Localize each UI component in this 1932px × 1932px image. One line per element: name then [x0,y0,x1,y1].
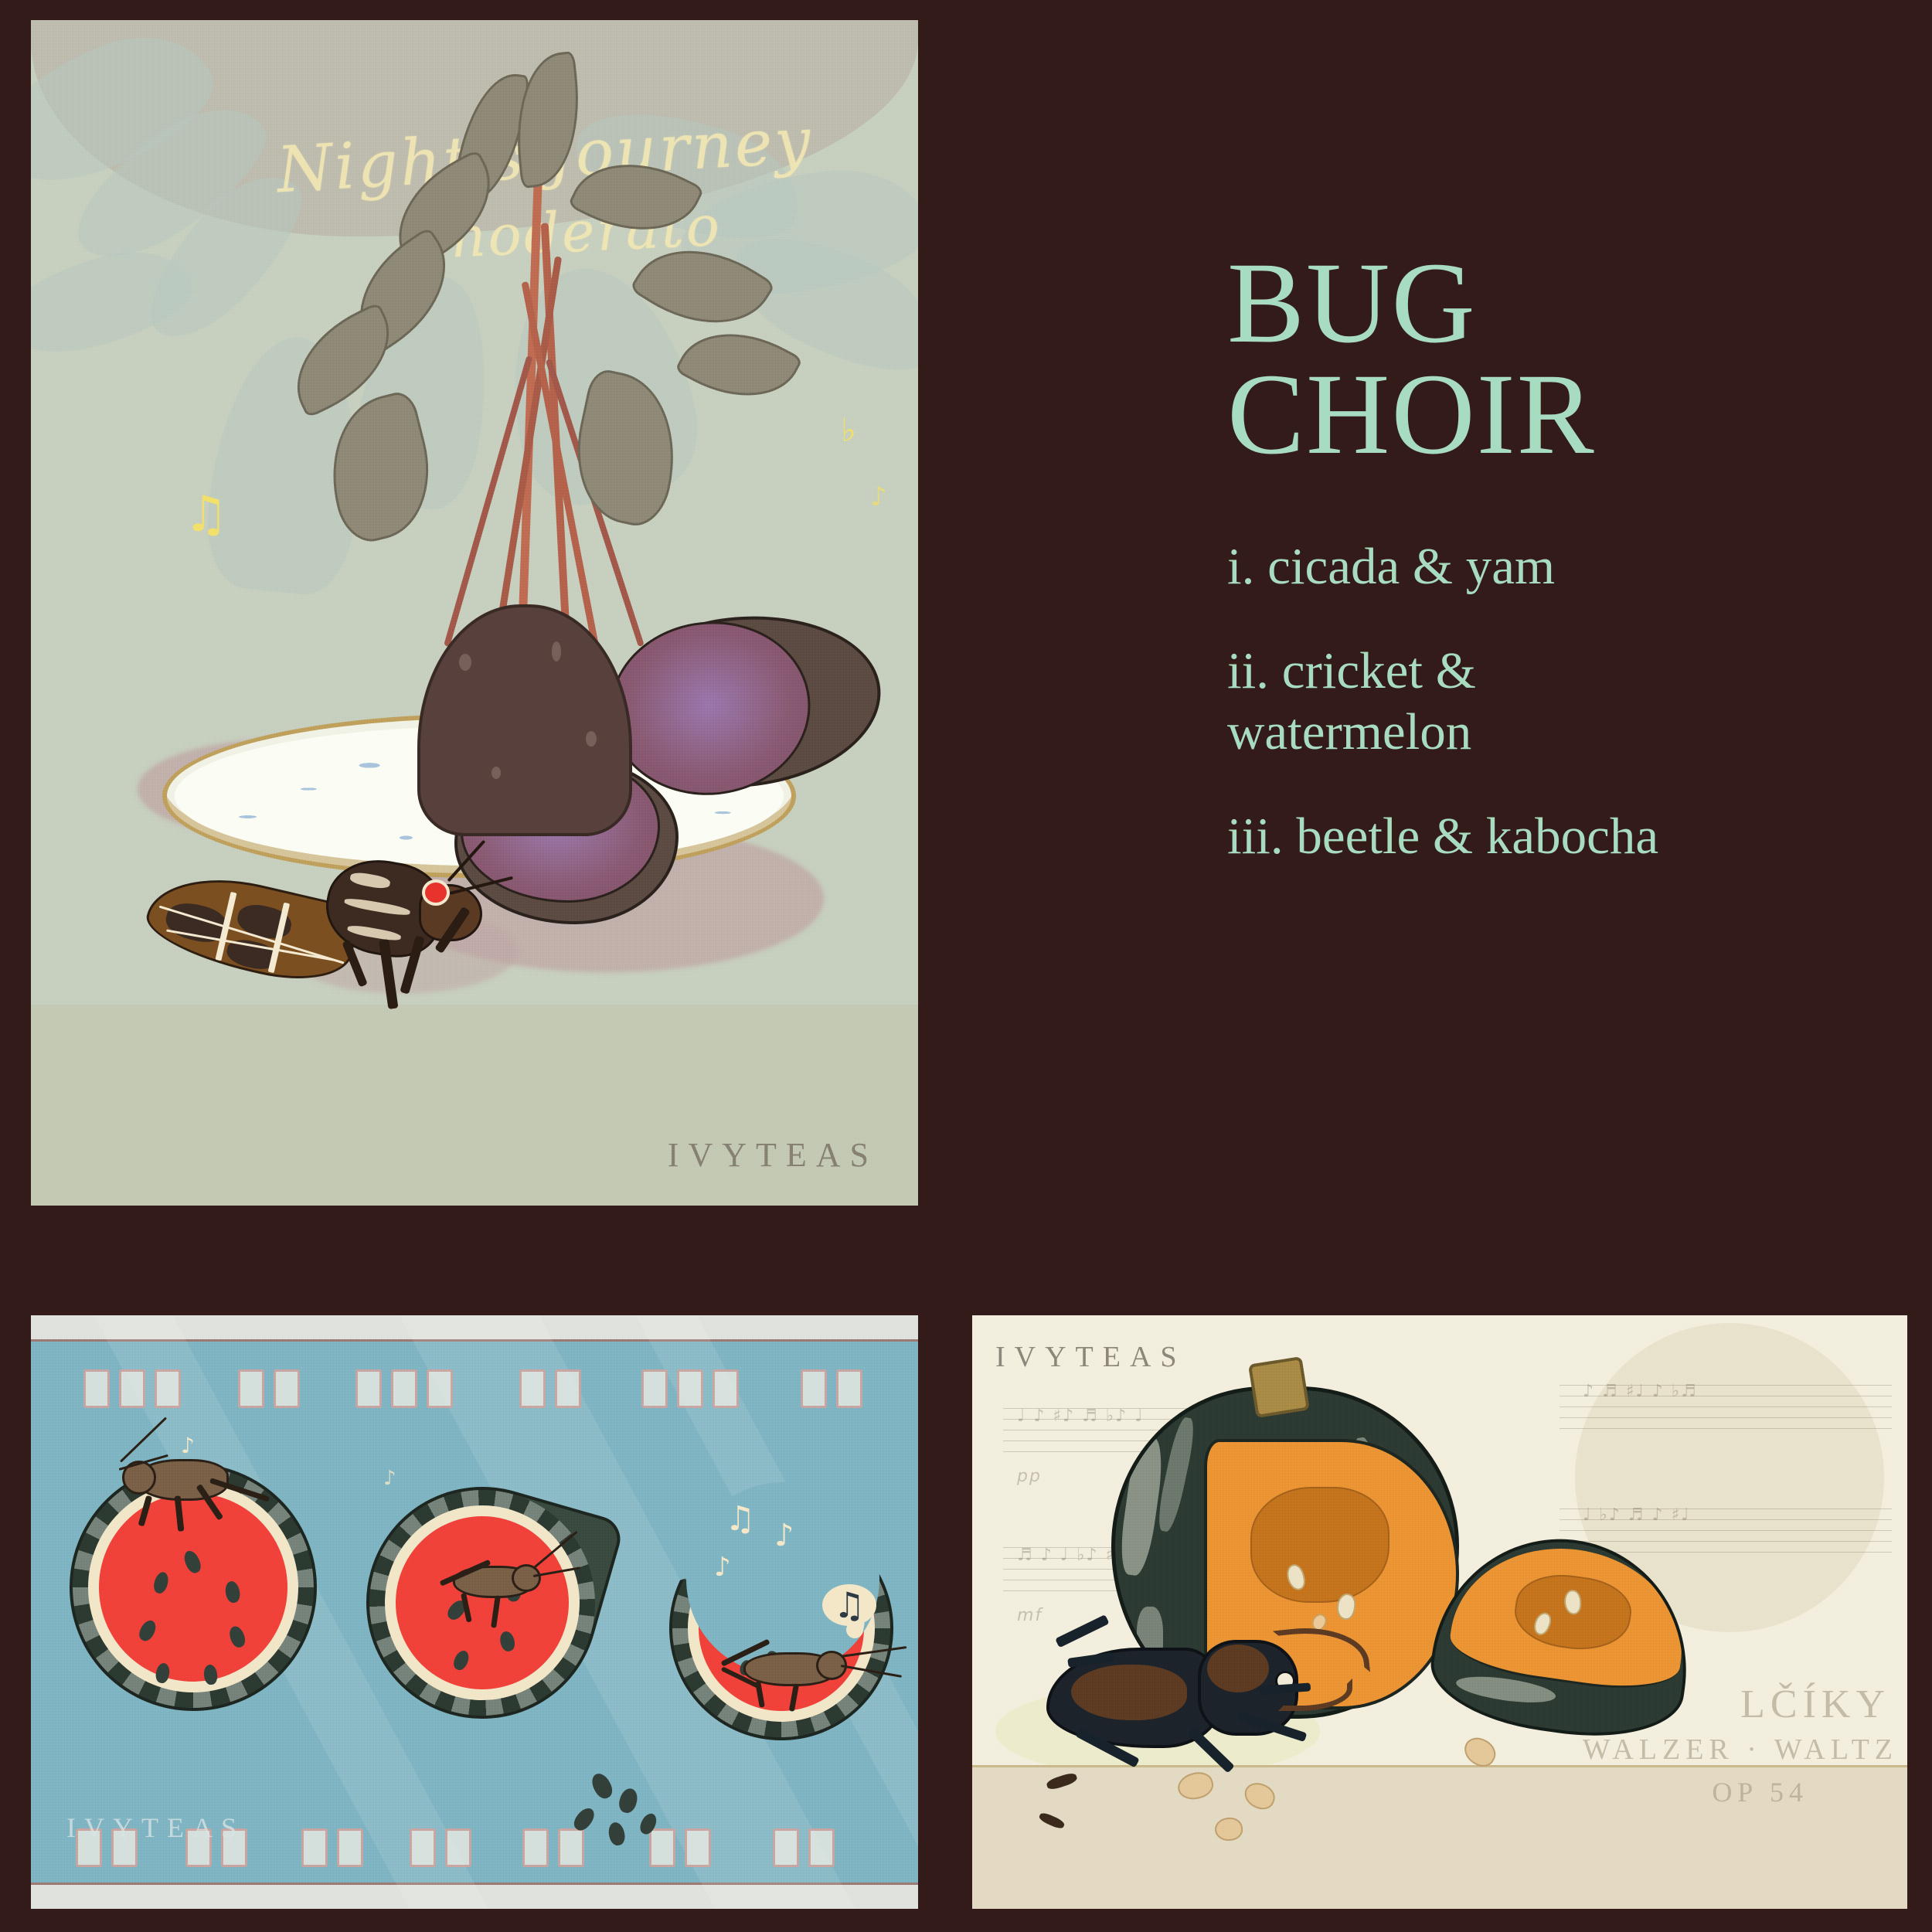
album-title-line-1: BUG [1227,247,1907,359]
artwork-canvas: Night's Journey moderato ♫ ♪ ♭ ♪ [0,0,1932,1932]
music-note-icon: ♪ [383,1467,396,1490]
sheet-music-subtitle: WALZER · WALTZ [1583,1733,1898,1767]
cricket-leg [461,1593,472,1623]
watermark: IVYTEAS [668,1135,878,1175]
panel-cricket-and-watermelon: ♪ [31,1315,918,1909]
sheet-music-notation: ♩ ♭♪ ♬ ♪ ♯♩ [1583,1505,1691,1525]
cricket-leg [138,1495,152,1527]
kabocha-stem [1248,1356,1310,1418]
rhinoceros-beetle-illustration [1046,1612,1371,1767]
beetle-horn [1273,1621,1370,1682]
sprocket-row-top [31,1369,918,1413]
kabocha-seed [1564,1590,1582,1615]
tracklist: i. cicada & yam ii. cricket & watermelon… [1227,536,1907,867]
music-note-icon: ♪ [774,1518,794,1553]
sheet-music-notation: ♩ ♪ ♯♪ ♬ ♭♪ ♩ [1017,1406,1145,1426]
spit-seed [588,1770,615,1801]
watermark: IVYTEAS [66,1811,245,1844]
music-note-icon: ♭ [841,414,856,447]
cricket-leg [175,1495,185,1532]
kabocha-seed-cavity [1250,1487,1389,1603]
sheet-music-dynamic: pp [1017,1467,1042,1486]
table-surface [31,1005,918,1206]
yam-whole [597,603,889,801]
sheet-music-dynamic: mf [1017,1606,1043,1625]
watermark: IVYTEAS [995,1340,1186,1374]
sheet-music-title: LČÍKY [1740,1682,1890,1727]
cricket-on-wedge [417,1547,572,1640]
beetle-leg [1055,1614,1109,1648]
spit-seed [617,1787,640,1815]
cicada-wing [140,862,362,993]
panel-beetle-and-kabocha: ♩ ♪ ♯♪ ♬ ♭♪ ♩ pp ♬ ♪ ♩ ♭♪ ♯♬ mf ♪ ♬ ♯♩ ♪… [972,1315,1907,1909]
cicada-eye [422,879,450,906]
cricket-leg [491,1595,501,1628]
music-note-icon: ♪ [714,1552,731,1583]
sheet-music-notation: ♪ ♬ ♯♩ ♪ ♭♬ [1583,1382,1698,1401]
panel-cicada-and-yam: Night's Journey moderato ♫ ♪ ♭ ♪ [31,20,918,1206]
album-text-column: BUG CHOIR i. cicada & yam ii. cricket & … [1227,247,1907,910]
album-title: BUG CHOIR [1227,247,1907,470]
track-item-3: iii. beetle & kabocha [1227,806,1907,867]
track-item-2: ii. cricket & watermelon [1227,641,1660,763]
cricket-singing [717,1635,895,1720]
music-note-icon: ♫ [184,490,228,539]
music-note-icon: ♫ [725,1499,755,1539]
track-item-1: i. cicada & yam [1227,536,1907,597]
cricket-head [512,1564,541,1592]
beetle-pronotum-marking [1207,1645,1269,1692]
sheet-music-opus: OP 54 [1712,1776,1808,1808]
album-title-line-2: CHOIR [1227,359,1907,470]
music-note-icon: ♫ [833,1584,865,1626]
cricket-on-round-slice: ♪ [105,1436,291,1529]
cricket-leg [789,1683,799,1712]
cricket-antenna-icon [841,1665,902,1678]
cicada-illustration [147,793,456,1017]
music-note-icon: ♪ [870,484,887,510]
music-note-icon: ♪ [181,1433,195,1458]
speech-bubble: ♫ [822,1584,876,1626]
